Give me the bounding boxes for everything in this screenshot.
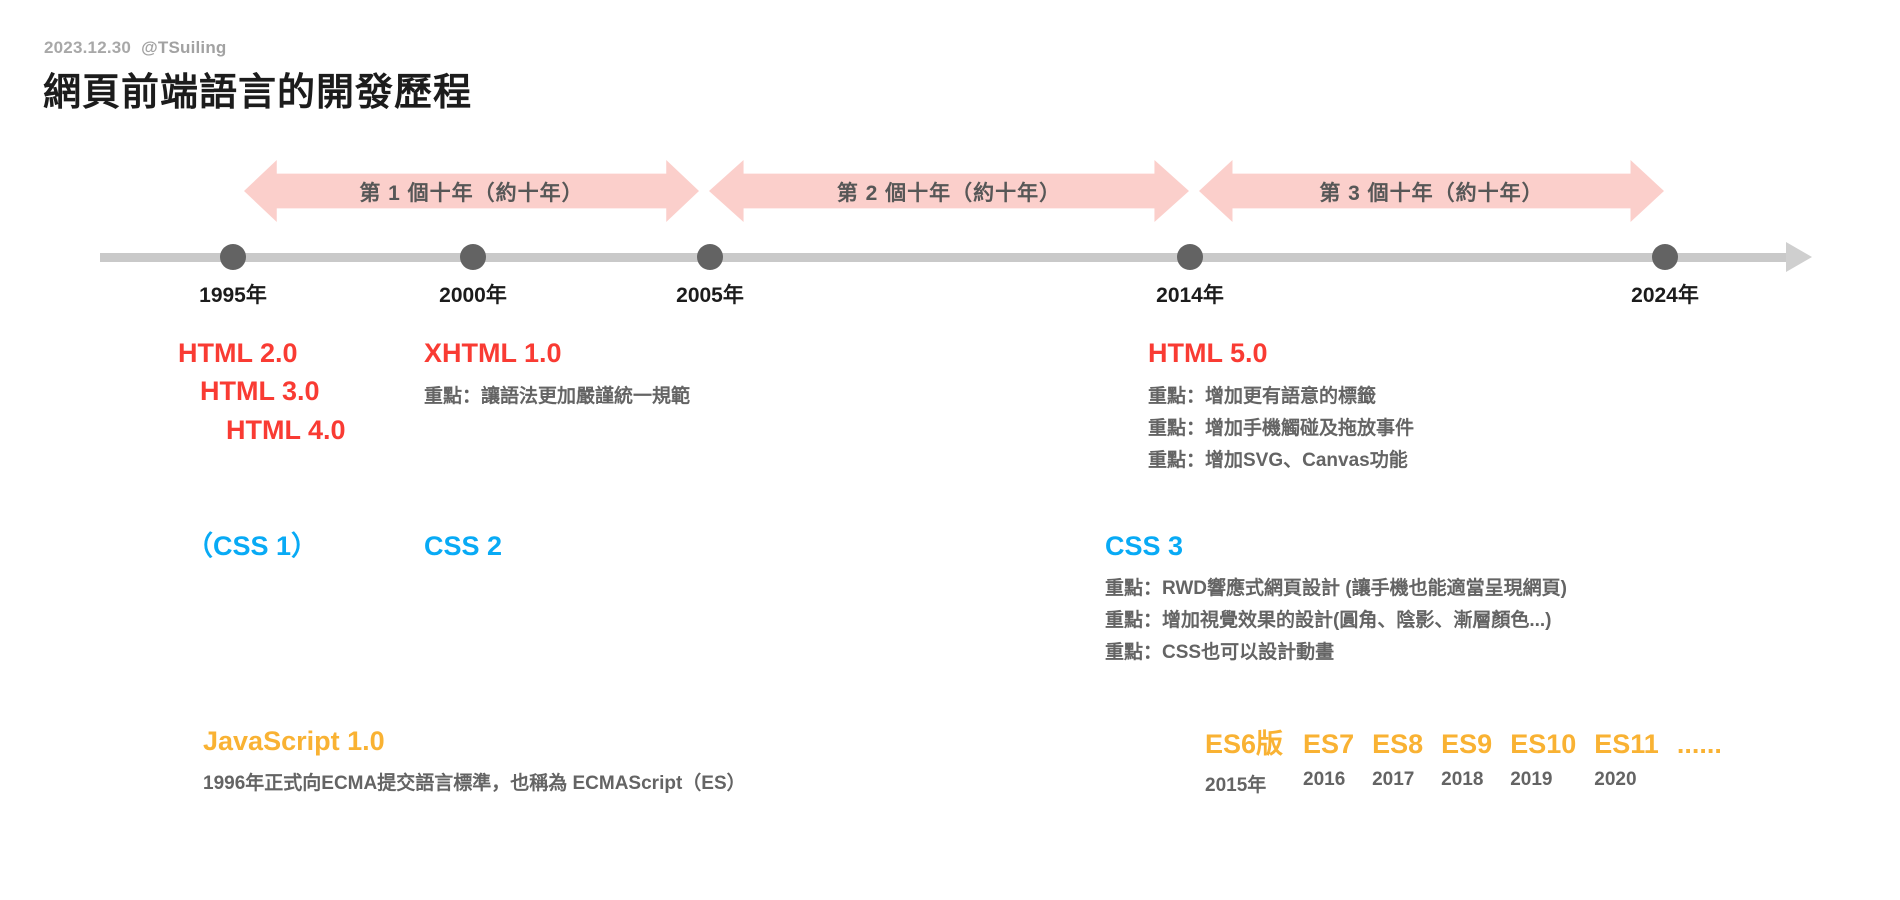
author-handle: @TSuiling [141, 38, 226, 57]
timeline-year-label: 2024年 [1631, 279, 1699, 309]
es-version-item: ES102019 [1510, 729, 1576, 791]
html5-desc-1: 重點：增加更有語意的標籤 [1148, 381, 1414, 413]
es-version-year: 2015年 [1205, 770, 1283, 797]
publish-date: 2023.12.30 [44, 38, 131, 57]
page-title: 網頁前端語言的開發歷程 [43, 61, 472, 116]
css3-desc-1: 重點：RWD響應式網頁設計 (讓手機也能適當呈現網頁) [1105, 573, 1567, 605]
html5-desc-2: 重點：增加手機觸碰及拖放事件 [1148, 413, 1414, 445]
timeline-year-label: 2005年 [676, 279, 744, 309]
css3-desc-3: 重點：CSS也可以設計動畫 [1105, 637, 1567, 669]
timeline-year-label: 2000年 [439, 279, 507, 309]
html-early-versions: HTML 2.0 HTML 3.0 HTML 4.0 [178, 334, 346, 449]
css2-heading: CSS 2 [424, 527, 502, 565]
es-version-name: ES7 [1303, 729, 1354, 760]
timeline-year-label: 1995年 [199, 279, 267, 309]
es-version-item: ES112020 [1594, 729, 1659, 791]
es-versions-row: ES6版2015年ES72016ES82017ES92018ES102019ES… [1205, 722, 1740, 797]
html5-heading: HTML 5.0 [1148, 334, 1414, 372]
es-version-year: 2019 [1510, 769, 1576, 791]
timeline-dot-1 [460, 244, 486, 270]
decade-arrow-1: 第 1 個十年（約十年） [244, 160, 699, 222]
es-version-item: ES6版2015年 [1205, 722, 1283, 797]
es-version-item: ES92018 [1441, 729, 1492, 791]
decade-arrow-1-label: 第 1 個十年（約十年） [359, 177, 583, 207]
es-version-year: 2017 [1372, 769, 1423, 791]
xhtml-heading: XHTML 1.0 [424, 334, 690, 372]
timeline-year-label: 2014年 [1156, 279, 1224, 309]
es-version-year: 2016 [1303, 769, 1354, 791]
html-version-2: HTML 2.0 [178, 334, 346, 372]
timeline-axis [100, 253, 1790, 262]
es-version-year: 2020 [1594, 769, 1659, 791]
es-version-year: 2018 [1441, 769, 1492, 791]
timeline-arrow-icon [1786, 242, 1812, 272]
javascript-heading: JavaScript 1.0 [203, 722, 746, 760]
es-version-name: ES10 [1510, 729, 1576, 760]
es-versions-block: ES6版2015年ES72016ES82017ES92018ES102019ES… [1205, 722, 1740, 797]
css1-heading: （CSS 1） [186, 527, 318, 565]
es-version-item: ES72016 [1303, 729, 1354, 791]
byline: 2023.12.30@TSuiling [44, 38, 227, 58]
es-version-name: ES8 [1372, 729, 1423, 760]
es-version-name: ...... [1677, 729, 1722, 760]
es-version-name: ES6版 [1205, 722, 1283, 761]
timeline-infographic: 2023.12.30@TSuiling 網頁前端語言的開發歷程 第 1 個十年（… [0, 0, 1900, 900]
html-version-3: HTML 3.0 [178, 372, 346, 410]
xhtml-block: XHTML 1.0 重點：讓語法更加嚴謹統一規範 [424, 334, 690, 413]
decade-arrow-3: 第 3 個十年（約十年） [1199, 160, 1664, 222]
css3-desc-2: 重點：增加視覺效果的設計(圓角、陰影、漸層顏色...) [1105, 605, 1567, 637]
es-version-item: ...... [1677, 729, 1722, 769]
es-version-name: ES11 [1594, 729, 1659, 760]
html-version-4: HTML 4.0 [178, 411, 346, 449]
decade-arrow-3-label: 第 3 個十年（約十年） [1319, 177, 1543, 207]
timeline-dot-3 [1177, 244, 1203, 270]
xhtml-desc-1: 重點：讓語法更加嚴謹統一規範 [424, 381, 690, 413]
css3-heading: CSS 3 [1105, 527, 1567, 565]
javascript-block: JavaScript 1.0 1996年正式向ECMA提交語言標準，也稱為 EC… [203, 722, 746, 800]
decade-arrow-band: 第 1 個十年（約十年） 第 2 個十年（約十年） 第 3 個十年（約十年） [0, 160, 1900, 222]
css3-block: CSS 3 重點：RWD響應式網頁設計 (讓手機也能適當呈現網頁) 重點：增加視… [1105, 527, 1567, 669]
decade-arrow-2-label: 第 2 個十年（約十年） [837, 177, 1061, 207]
html5-block: HTML 5.0 重點：增加更有語意的標籤 重點：增加手機觸碰及拖放事件 重點：… [1148, 334, 1414, 477]
es-version-name: ES9 [1441, 729, 1492, 760]
es-version-item: ES82017 [1372, 729, 1423, 791]
timeline-dot-4 [1652, 244, 1678, 270]
timeline-dot-2 [697, 244, 723, 270]
javascript-desc: 1996年正式向ECMA提交語言標準，也稱為 ECMAScript（ES） [203, 768, 746, 800]
timeline-dot-0 [220, 244, 246, 270]
decade-arrow-2: 第 2 個十年（約十年） [709, 160, 1189, 222]
html5-desc-3: 重點：增加SVG、Canvas功能 [1148, 445, 1414, 477]
